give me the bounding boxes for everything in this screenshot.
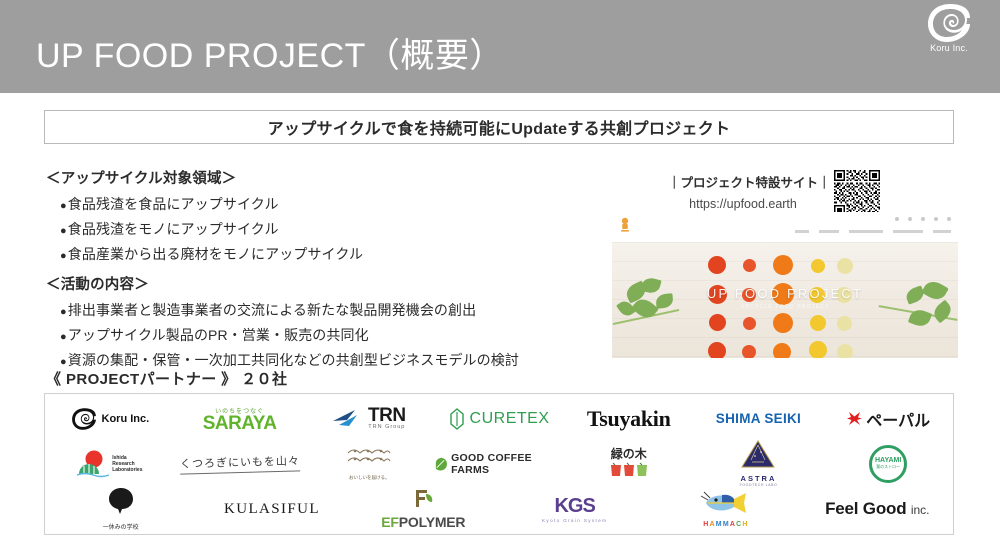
veg-slice xyxy=(837,316,852,331)
partner-sub: inc. xyxy=(911,503,930,517)
bullet-dot-icon: ● xyxy=(60,225,67,237)
partner-name: KGS xyxy=(542,495,607,518)
bullet-dot-icon: ● xyxy=(60,200,67,212)
partner-logo-good-coffee-farms: GOOD COFFEE FARMS xyxy=(434,442,564,486)
subtitle-text: アップサイクルで食を持続可能にUpdateする共創プロジェクト xyxy=(268,115,731,139)
site-hero: UP FOOD PROJECT UPCYCLE FOOD PROJECT xyxy=(612,242,958,358)
partner-logo-kgs: KGS Kyoto Grain System xyxy=(499,487,650,531)
partner-logo-tsuyakin: Tsuyakin xyxy=(564,397,694,441)
red-x-icon xyxy=(846,410,863,427)
bullet-item: ●食品産業から出る廃材をモノにアップサイクル xyxy=(46,243,606,268)
partner-name: Koru Inc. xyxy=(102,413,150,425)
partner-name: くつろぎにいもを山々 xyxy=(179,453,299,475)
partner-logo-ishida: IshidaResearchLaboratories xyxy=(45,442,175,486)
partner-logo-hitoyasumi: 一休みの学校 xyxy=(45,487,196,531)
site-logo-icon xyxy=(619,217,631,233)
slide-canvas: UP FOOD PROJECT（概要） Koru Inc. アップサイクルで食を… xyxy=(0,0,1000,547)
site-menu-item-home[interactable] xyxy=(795,230,809,233)
partner-logo-oishii: おいしいを届ける。 xyxy=(304,442,434,486)
partner-name: Feel Good xyxy=(825,499,906,518)
brand-logo: Koru Inc. xyxy=(916,4,982,60)
content-sections: ＜アップサイクル対象領域＞ ●食品残渣を食品にアップサイクル ●食品残渣をモノに… xyxy=(46,167,606,374)
fish-icon xyxy=(700,490,752,516)
veg-slice xyxy=(709,314,726,331)
ishida-sun-icon xyxy=(77,450,109,478)
mail-icon[interactable] xyxy=(947,217,951,221)
bullet-text: 食品残渣をモノにアップサイクル xyxy=(68,221,279,237)
bullet-text: 食品残渣を食品にアップサイクル xyxy=(68,196,279,212)
partner-row: IshidaResearchLaboratories くつろぎにいもを山々 おい… xyxy=(45,442,953,486)
partner-name: ASTRA xyxy=(740,474,778,483)
koru-spiral-icon xyxy=(71,408,97,430)
partners-box: Koru Inc. いのちをつなぐ SARAYA TRN TRN xyxy=(44,393,954,535)
bullet-text: 排出事業者と製造事業者の交流による新たな製品開発機会の創出 xyxy=(68,302,476,318)
partner-name: EFPOLYMER xyxy=(381,514,465,530)
partner-row: 一休みの学校 KULASIFUL EFPOLYMER KGS Kyoto xyxy=(45,487,953,531)
veg-slice xyxy=(708,256,726,274)
bullet-dot-icon: ● xyxy=(60,250,67,262)
partner-logo-feel-good: Feel Good inc. xyxy=(802,487,953,531)
wave-lines-icon xyxy=(346,446,392,468)
veg-slice xyxy=(837,258,853,274)
site-menu[interactable] xyxy=(795,230,951,233)
efpolymer-leaf-icon xyxy=(412,489,434,509)
veg-slice xyxy=(742,345,756,358)
bullet-dot-icon: ● xyxy=(60,331,67,343)
partner-name: TRN xyxy=(368,406,406,425)
partner-name: SARAYA xyxy=(203,415,277,432)
speech-bubble-icon xyxy=(108,487,134,515)
header-band: UP FOOD PROJECT（概要） Koru Inc. xyxy=(0,0,1000,93)
brand-name: Koru Inc. xyxy=(930,43,968,53)
bullet-item: ●アップサイクル製品のPR・営業・販売の共同化 xyxy=(46,324,606,349)
partner-sub: 葉のストロー xyxy=(876,464,900,470)
site-nav-bar xyxy=(612,212,958,242)
partners-heading: 《 PROJECTパートナー 》 ２０社 xyxy=(46,368,287,389)
veg-slice xyxy=(743,317,756,330)
juice-cups-icon xyxy=(609,462,649,478)
partner-logo-midorinoki: 緑の木 xyxy=(564,442,694,486)
twitter-icon[interactable] xyxy=(908,217,912,221)
astra-triangle-icon xyxy=(741,440,775,468)
veg-slice xyxy=(811,259,825,273)
curetex-leaf-icon xyxy=(449,408,465,430)
partner-name: KULASIFUL xyxy=(224,501,320,518)
partner-logo-handwritten: くつろぎにいもを山々 xyxy=(175,442,305,486)
section-heading-2: ＜活動の内容＞ xyxy=(46,273,606,294)
bullet-item: ●排出事業者と製造事業者の交流による新たな製品開発機会の創出 xyxy=(46,299,606,324)
partner-sub: TRN Group xyxy=(368,425,406,431)
partner-logo-curetex: CURETEX xyxy=(434,397,564,441)
website-screenshot[interactable]: UP FOOD PROJECT UPCYCLE FOOD PROJECT xyxy=(612,212,958,358)
partner-logo-astra: ASTRA FOODTECH LABO xyxy=(694,442,824,486)
facebook-icon[interactable] xyxy=(895,217,899,221)
veg-slice xyxy=(743,259,756,272)
veg-slice xyxy=(837,344,853,358)
bullet-text: アップサイクル製品のPR・営業・販売の共同化 xyxy=(68,327,369,343)
partner-name-block: IshidaResearchLaboratories xyxy=(112,455,142,473)
koru-spiral-icon xyxy=(926,4,972,42)
bullet-dot-icon: ● xyxy=(60,306,67,318)
bullet-dot-icon: ● xyxy=(60,356,67,368)
partner-logo-shima-seiki: SHIMA SEIKI xyxy=(694,397,824,441)
partner-name: Tsuyakin xyxy=(587,406,671,432)
site-menu-item-join[interactable] xyxy=(933,230,951,233)
bullet-text: 食品産業から出る廃材をモノにアップサイクル xyxy=(68,246,363,262)
instagram-icon[interactable] xyxy=(921,217,925,221)
section-heading-1: ＜アップサイクル対象領域＞ xyxy=(46,167,606,188)
project-site-block: ｜プロジェクト特設サイト｜ https://upfood.earth xyxy=(668,170,958,216)
veg-slice xyxy=(708,342,726,358)
project-site-url[interactable]: https://upfood.earth xyxy=(668,197,818,211)
partner-name: ペーパル xyxy=(866,407,930,431)
site-menu-item-overseas[interactable] xyxy=(849,230,883,233)
note-icon[interactable] xyxy=(934,217,938,221)
site-hero-title: UP FOOD PROJECT xyxy=(612,286,958,301)
partner-name: おいしいを届ける。 xyxy=(346,475,392,481)
trn-arrow-icon xyxy=(333,409,363,429)
partner-logo-kulasiful: KULASIFUL xyxy=(196,487,347,531)
partner-name: HAMMACH xyxy=(700,521,752,528)
bullet-item: ●食品残渣を食品にアップサイクル xyxy=(46,193,606,218)
site-menu-item-project[interactable] xyxy=(893,230,923,233)
bullet-text: 資源の集配・保管・一次加工共同化などの共創型ビジネスモデルの検討 xyxy=(68,352,519,368)
site-social-icons[interactable] xyxy=(895,217,951,221)
veg-slice xyxy=(773,313,793,333)
veg-slice xyxy=(773,255,793,275)
partner-name: CURETEX xyxy=(470,410,550,428)
partner-name: SHIMA SEIKI xyxy=(716,411,801,426)
subtitle-banner: アップサイクルで食を持続可能にUpdateする共創プロジェクト xyxy=(44,110,954,144)
coffee-leaf-icon xyxy=(434,456,447,472)
project-site-label: ｜プロジェクト特設サイト｜ xyxy=(668,172,818,191)
partner-row: Koru Inc. いのちをつなぐ SARAYA TRN TRN xyxy=(45,397,953,441)
veg-slice xyxy=(810,315,826,331)
partner-logo-hammach: HAMMACH xyxy=(650,487,801,531)
bullet-item: ●食品残渣をモノにアップサイクル xyxy=(46,218,606,243)
partner-sub: Kyoto Grain System xyxy=(542,518,607,523)
partner-logo-efpolymer: EFPOLYMER xyxy=(348,487,499,531)
site-menu-item-about[interactable] xyxy=(819,230,839,233)
qr-code-icon[interactable] xyxy=(834,170,880,216)
partner-logo-trn: TRN TRN Group xyxy=(304,397,434,441)
partner-logo-paypal: ペーパル xyxy=(823,397,953,441)
veg-slice xyxy=(773,343,791,358)
partner-name: 緑の木 xyxy=(609,445,649,462)
veg-slice xyxy=(809,341,827,358)
partner-name: 一休みの学校 xyxy=(103,522,139,531)
partner-logo-koru: Koru Inc. xyxy=(45,397,175,441)
partner-name: GOOD COFFEE FARMS xyxy=(451,452,564,476)
partner-logo-hayami: HAYAMI 葉のストロー xyxy=(823,442,953,486)
site-hero-subtitle: UPCYCLE FOOD PROJECT xyxy=(612,304,958,310)
partner-logo-saraya: いのちをつなぐ SARAYA xyxy=(175,397,305,441)
page-title: UP FOOD PROJECT（概要） xyxy=(36,28,504,77)
